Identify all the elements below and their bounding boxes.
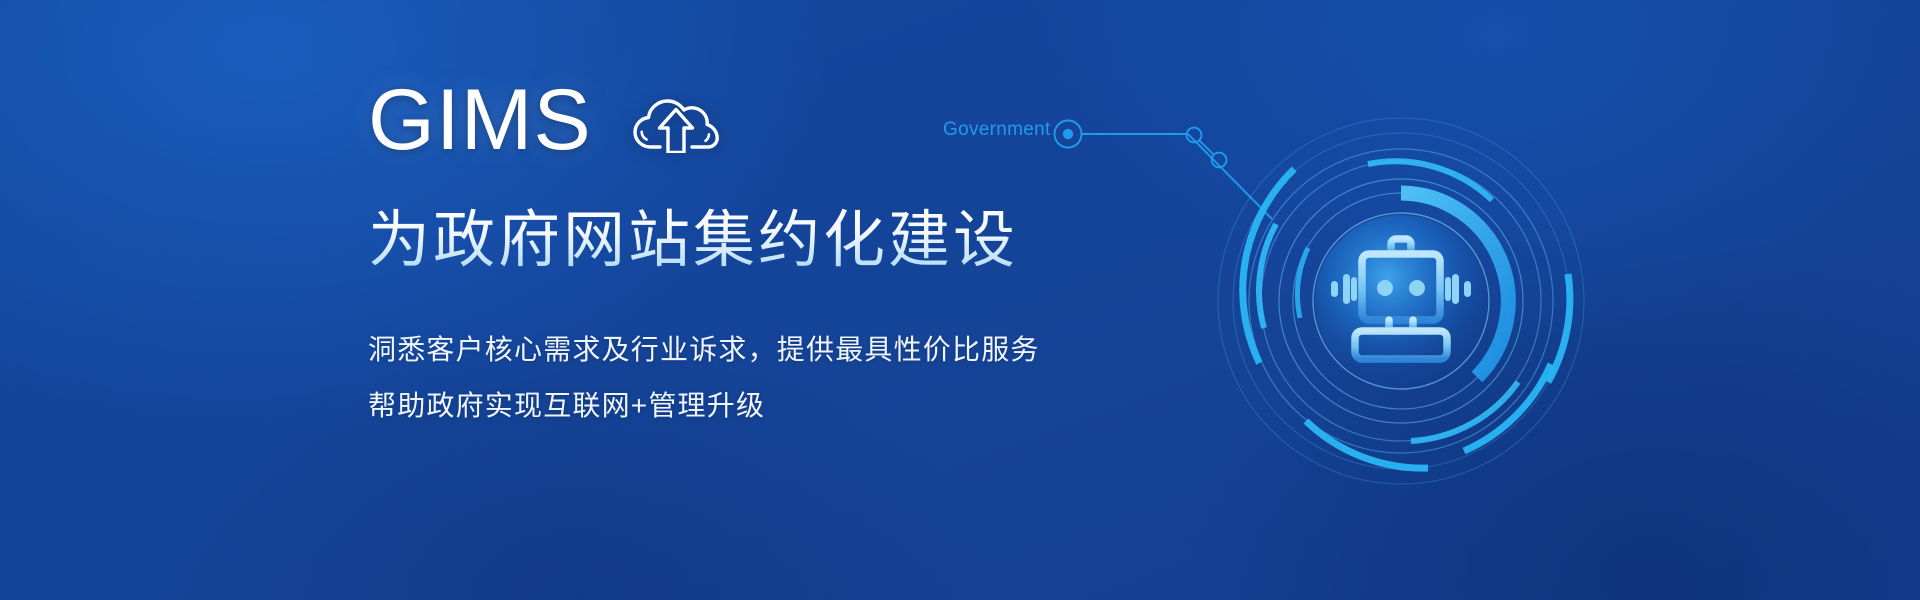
cloud-upload-icon (630, 87, 722, 153)
hero-banner: GIMS 为政府网站集约化建设 洞悉客户核心需求及行业诉求，提供最具性价比服务 … (0, 0, 1920, 600)
government-node-label: Government (943, 119, 1051, 141)
page-title: GIMS (368, 72, 592, 168)
robot-ring-graphic (1196, 96, 1606, 506)
hero-description: 洞悉客户核心需求及行业诉求，提供最具性价比服务 帮助政府实现互联网+管理升级 (368, 322, 1188, 434)
hero-description-line-2: 帮助政府实现互联网+管理升级 (368, 378, 1188, 434)
hero-description-line-1: 洞悉客户核心需求及行业诉求，提供最具性价比服务 (368, 322, 1188, 378)
